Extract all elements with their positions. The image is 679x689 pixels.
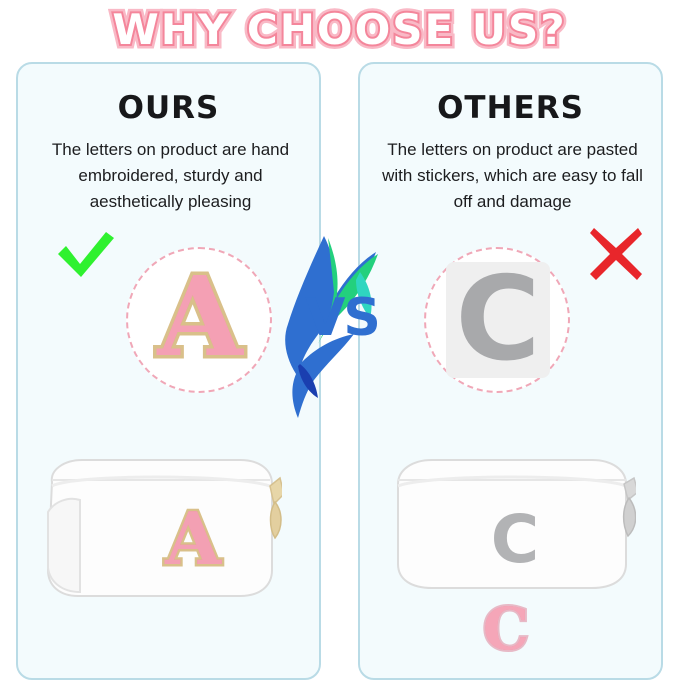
sticker-letter-c: C <box>446 256 550 384</box>
panel-others-description: The letters on product are pasted with s… <box>378 137 647 215</box>
panel-others-title: OTHERS <box>360 90 661 126</box>
panel-ours-title: OURS <box>18 90 319 126</box>
chenille-letter-a: A <box>152 257 248 377</box>
pouch-letter-c: C <box>482 505 548 575</box>
vs-label: VS <box>296 288 388 348</box>
panel-ours-description: The letters on product are hand embroide… <box>36 137 305 215</box>
comparison-infographic: WHY CHOOSE US? WHY CHOOSE US? OURS The l… <box>0 0 679 689</box>
vs-divider: VS <box>276 232 404 422</box>
pouch-letter-a: A <box>158 500 228 578</box>
green-check-icon <box>56 232 116 278</box>
red-cross-icon <box>590 228 642 280</box>
page-title: WHY CHOOSE US? <box>0 4 679 56</box>
fallen-letter-c: C <box>470 598 542 660</box>
